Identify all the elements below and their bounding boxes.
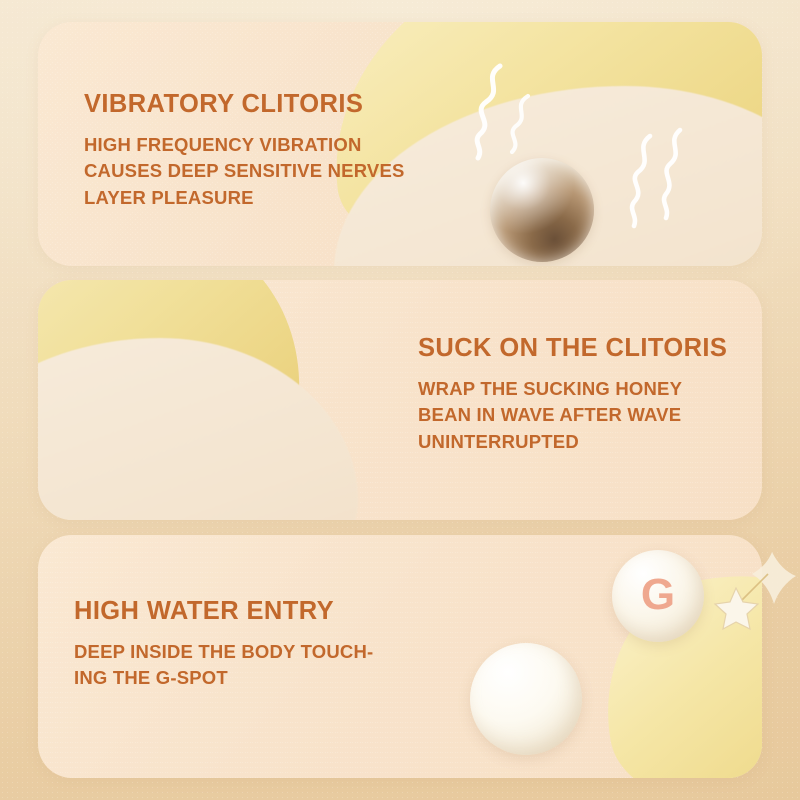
- panel-1-text-block: VIBRATORY CLITORIS HIGH FREQUENCY VIBRAT…: [84, 90, 405, 211]
- g-spot-badge-letter: G: [641, 573, 675, 617]
- panel-2-body-line-3: UNINTERRUPTED: [418, 429, 727, 455]
- cream-white-sphere-icon: [470, 643, 582, 755]
- feature-panel-vibratory-clitoris: VIBRATORY CLITORIS HIGH FREQUENCY VIBRAT…: [38, 22, 762, 266]
- panel-3-body-line-2: ING THE G-SPOT: [74, 665, 373, 691]
- panel-1-heading: VIBRATORY CLITORIS: [84, 90, 405, 118]
- product-yellow-body-icon: [38, 280, 334, 519]
- panel-3-body-line-1: DEEP INSIDE THE BODY TOUCH-: [74, 639, 373, 665]
- g-spot-badge-sphere: G: [612, 550, 704, 642]
- vibration-wave-icon: [470, 60, 540, 170]
- glossy-bronze-sphere-icon: [490, 158, 594, 262]
- panel-1-body-line-2: CAUSES DEEP SENSITIVE NERVES: [84, 158, 405, 184]
- panel-3-text-block: HIGH WATER ENTRY DEEP INSIDE THE BODY TO…: [74, 597, 373, 692]
- gold-star-charm-icon: [712, 548, 798, 658]
- feature-panel-suck-on-the-clitoris: SUCK ON THE CLITORIS WRAP THE SUCKING HO…: [38, 280, 762, 520]
- panel-2-text-block: SUCK ON THE CLITORIS WRAP THE SUCKING HO…: [418, 334, 727, 455]
- panel-1-body-line-1: HIGH FREQUENCY VIBRATION: [84, 132, 405, 158]
- panel-1-body-line-3: LAYER PLEASURE: [84, 185, 405, 211]
- vibration-wave-icon: [628, 126, 698, 236]
- infographic-page: VIBRATORY CLITORIS HIGH FREQUENCY VIBRAT…: [0, 0, 800, 800]
- panel-2-body-line-2: BEAN IN WAVE AFTER WAVE: [418, 402, 727, 428]
- product-yellow-tail-icon: [672, 663, 762, 778]
- cream-blob-shape: [38, 338, 358, 520]
- panel-2-body-line-1: WRAP THE SUCKING HONEY: [418, 376, 727, 402]
- panel-2-heading: SUCK ON THE CLITORIS: [418, 334, 727, 362]
- panel-3-heading: HIGH WATER ENTRY: [74, 597, 373, 625]
- cream-blob-shape: [648, 653, 762, 778]
